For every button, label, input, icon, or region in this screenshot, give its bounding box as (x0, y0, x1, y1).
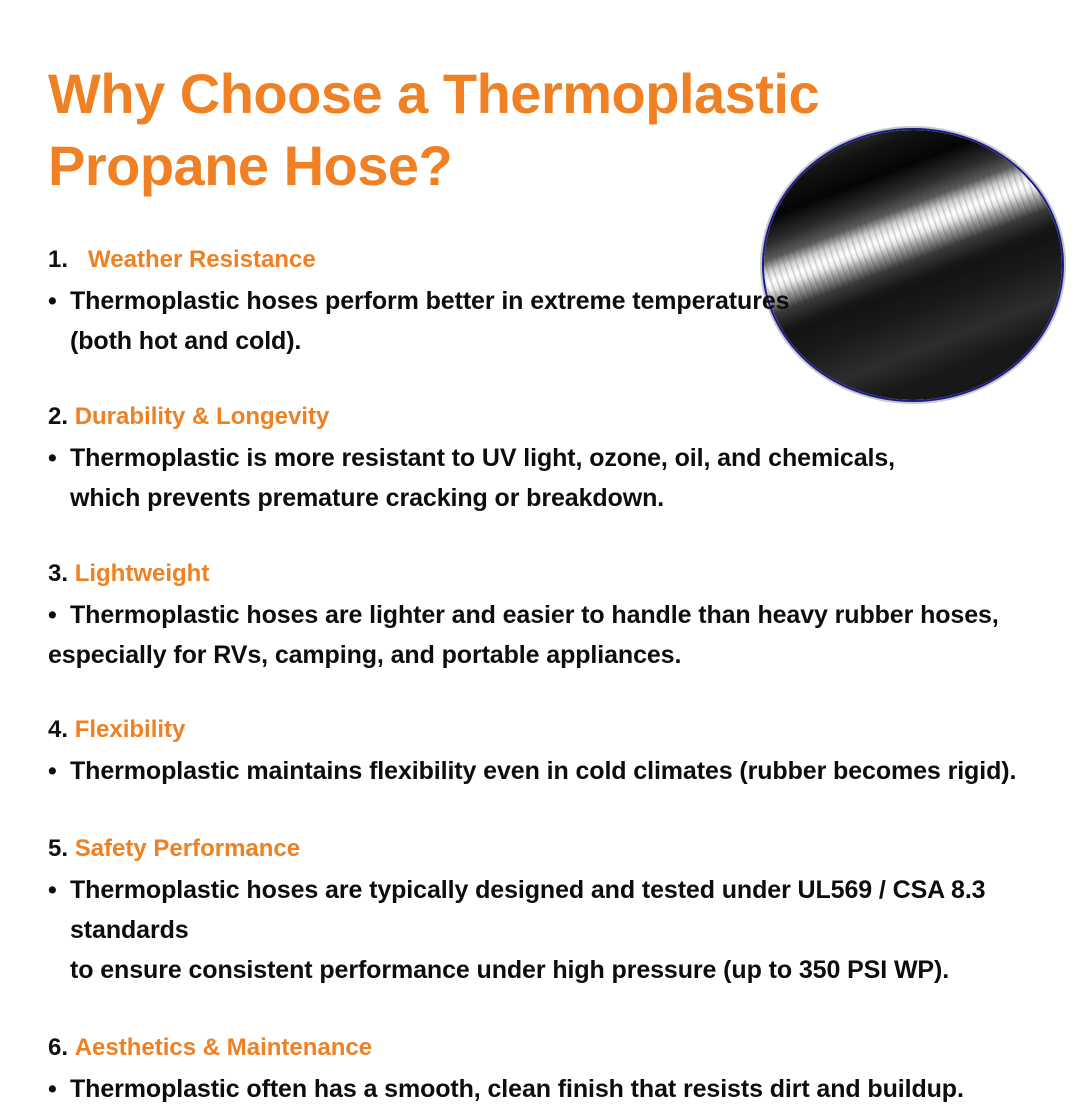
benefit-bullet-line: •Thermoplastic often has a smooth, clean… (48, 1069, 1052, 1109)
benefit-line-text: Thermoplastic hoses are lighter and easi… (70, 601, 999, 629)
benefit-number-gap (68, 716, 75, 743)
benefit-item: 6. Aesthetics & Maintenance•Thermoplasti… (48, 1031, 1052, 1109)
benefit-body: •Thermoplastic often has a smooth, clean… (48, 1069, 1052, 1109)
benefit-item: 4. Flexibility•Thermoplastic maintains f… (48, 713, 1052, 791)
benefit-heading: 3. Lightweight (48, 557, 1052, 591)
benefit-item: 1. Weather Resistance•Thermoplastic hose… (48, 243, 1052, 361)
benefit-continuation-line: to ensure consistent performance under h… (48, 950, 1052, 990)
bullet-icon: • (48, 595, 57, 635)
benefit-number-gap (68, 246, 88, 273)
benefit-number-gap (68, 560, 75, 587)
benefit-title: Lightweight (75, 560, 210, 587)
benefit-body: •Thermoplastic hoses perform better in e… (48, 281, 1052, 361)
benefit-number-gap (68, 1034, 75, 1061)
benefit-title: Flexibility (75, 716, 186, 743)
benefit-number: 5. (48, 835, 68, 862)
benefit-number: 3. (48, 560, 68, 587)
benefit-title: Weather Resistance (88, 246, 316, 273)
benefit-bullet-line: •Thermoplastic maintains flexibility eve… (48, 751, 1052, 791)
benefit-number: 1. (48, 246, 68, 273)
benefit-number: 2. (48, 403, 68, 430)
benefit-number: 6. (48, 1034, 68, 1061)
benefit-continuation-line: especially for RVs, camping, and portabl… (48, 635, 1052, 675)
page-title: Why Choose a Thermoplastic Propane Hose? (48, 58, 848, 202)
benefit-number-gap (68, 835, 75, 862)
benefit-number: 4. (48, 716, 68, 743)
benefit-heading: 4. Flexibility (48, 713, 1052, 747)
benefit-continuation-line: which prevents premature cracking or bre… (48, 478, 1052, 518)
benefit-heading: 6. Aesthetics & Maintenance (48, 1031, 1052, 1065)
benefit-bullet-line: •Thermoplastic hoses are lighter and eas… (48, 595, 1052, 635)
benefit-line-text: Thermoplastic hoses perform better in ex… (70, 287, 789, 315)
benefit-line-text: Thermoplastic is more resistant to UV li… (70, 444, 895, 472)
benefit-item: 3. Lightweight•Thermoplastic hoses are l… (48, 557, 1052, 675)
benefit-heading: 5. Safety Performance (48, 832, 1052, 866)
bullet-icon: • (48, 1069, 57, 1109)
benefit-line-text: Thermoplastic maintains flexibility even… (70, 757, 1016, 785)
benefit-bullet-line: •Thermoplastic hoses are typically desig… (48, 870, 1052, 950)
benefit-body: •Thermoplastic maintains flexibility eve… (48, 751, 1052, 791)
benefit-item: 2. Durability & Longevity•Thermoplastic … (48, 400, 1052, 518)
benefit-heading: 1. Weather Resistance (48, 243, 1052, 277)
benefit-title: Durability & Longevity (75, 403, 330, 430)
benefit-line-text: Thermoplastic hoses are typically design… (70, 876, 985, 944)
benefit-line-text: Thermoplastic often has a smooth, clean … (70, 1075, 964, 1103)
benefit-bullet-line: •Thermoplastic hoses perform better in e… (48, 281, 1052, 321)
benefit-bullet-line: •Thermoplastic is more resistant to UV l… (48, 438, 1052, 478)
bullet-icon: • (48, 751, 57, 791)
bullet-icon: • (48, 870, 57, 910)
benefit-body: •Thermoplastic hoses are typically desig… (48, 870, 1052, 990)
benefit-body: •Thermoplastic is more resistant to UV l… (48, 438, 1052, 518)
bullet-icon: • (48, 281, 57, 321)
bullet-icon: • (48, 438, 57, 478)
benefit-continuation-line: (both hot and cold). (48, 321, 1052, 361)
benefit-title: Aesthetics & Maintenance (75, 1034, 372, 1061)
benefit-number-gap (68, 403, 75, 430)
benefit-title: Safety Performance (75, 835, 300, 862)
benefits-list: 1. Weather Resistance•Thermoplastic hose… (48, 243, 1052, 1109)
infographic-slide: Why Choose a Thermoplastic Propane Hose?… (0, 0, 1080, 1080)
benefit-item: 5. Safety Performance•Thermoplastic hose… (48, 832, 1052, 990)
benefit-body: •Thermoplastic hoses are lighter and eas… (48, 595, 1052, 675)
benefit-heading: 2. Durability & Longevity (48, 400, 1052, 434)
